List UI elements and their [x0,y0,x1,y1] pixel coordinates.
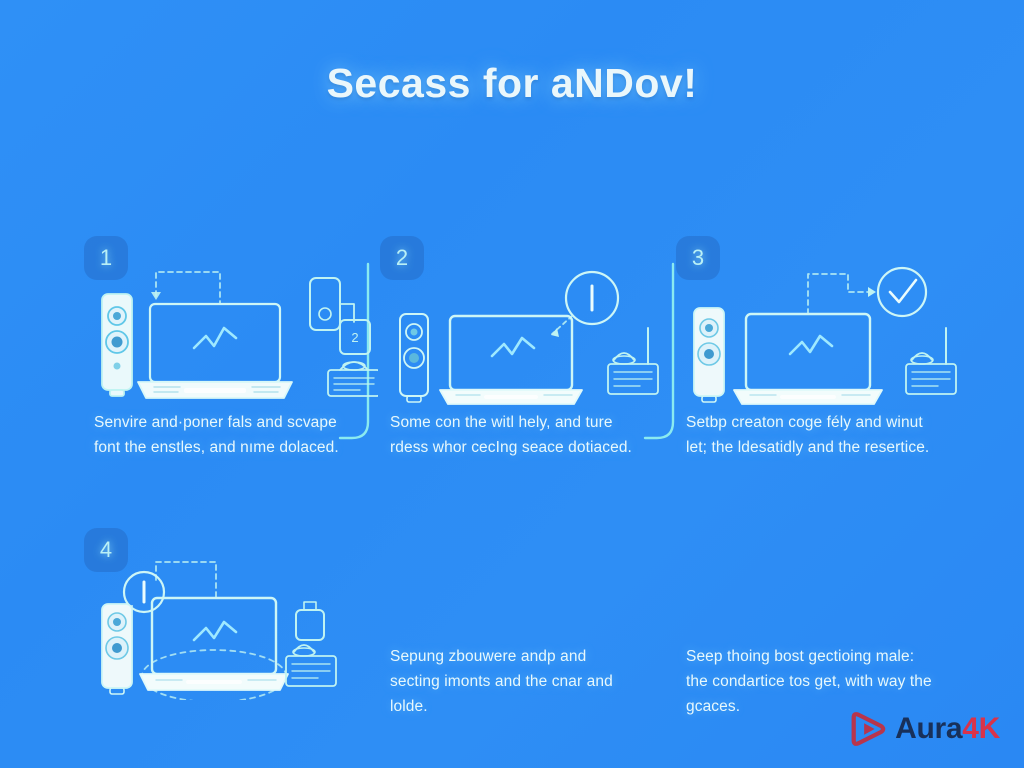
page-title: Secass for aNDov! [0,60,1024,107]
play-triangle-icon [848,710,886,748]
step-illustration-2 [384,258,674,408]
brand-name-accent: 4K [962,712,1000,745]
brand-logo: Aura4K [848,710,1000,748]
title-container: Secass for aNDov! [0,60,1024,107]
step-caption-2: Some con the witl hely, and ture rdess w… [390,410,638,460]
step-caption-3: Setbp creaton coge fély and winut let; t… [686,410,934,460]
step-caption-5: Sepung zbouwere andp and secting imonts … [390,644,638,719]
brand-name: Aura4K [895,714,1000,744]
svg-text:2: 2 [351,330,358,345]
step-caption-1: Senvire and·poner fals and scvape font t… [94,410,342,460]
brand-name-primary: Aura [895,712,962,745]
step-illustration-3 [680,258,970,408]
step-caption-6: Seep thoing bost gectioing male: the con… [686,644,934,719]
step-illustration-4 [88,550,378,700]
steps-grid: 1 [0,232,1024,702]
step-illustration-1: 2 [88,258,378,408]
